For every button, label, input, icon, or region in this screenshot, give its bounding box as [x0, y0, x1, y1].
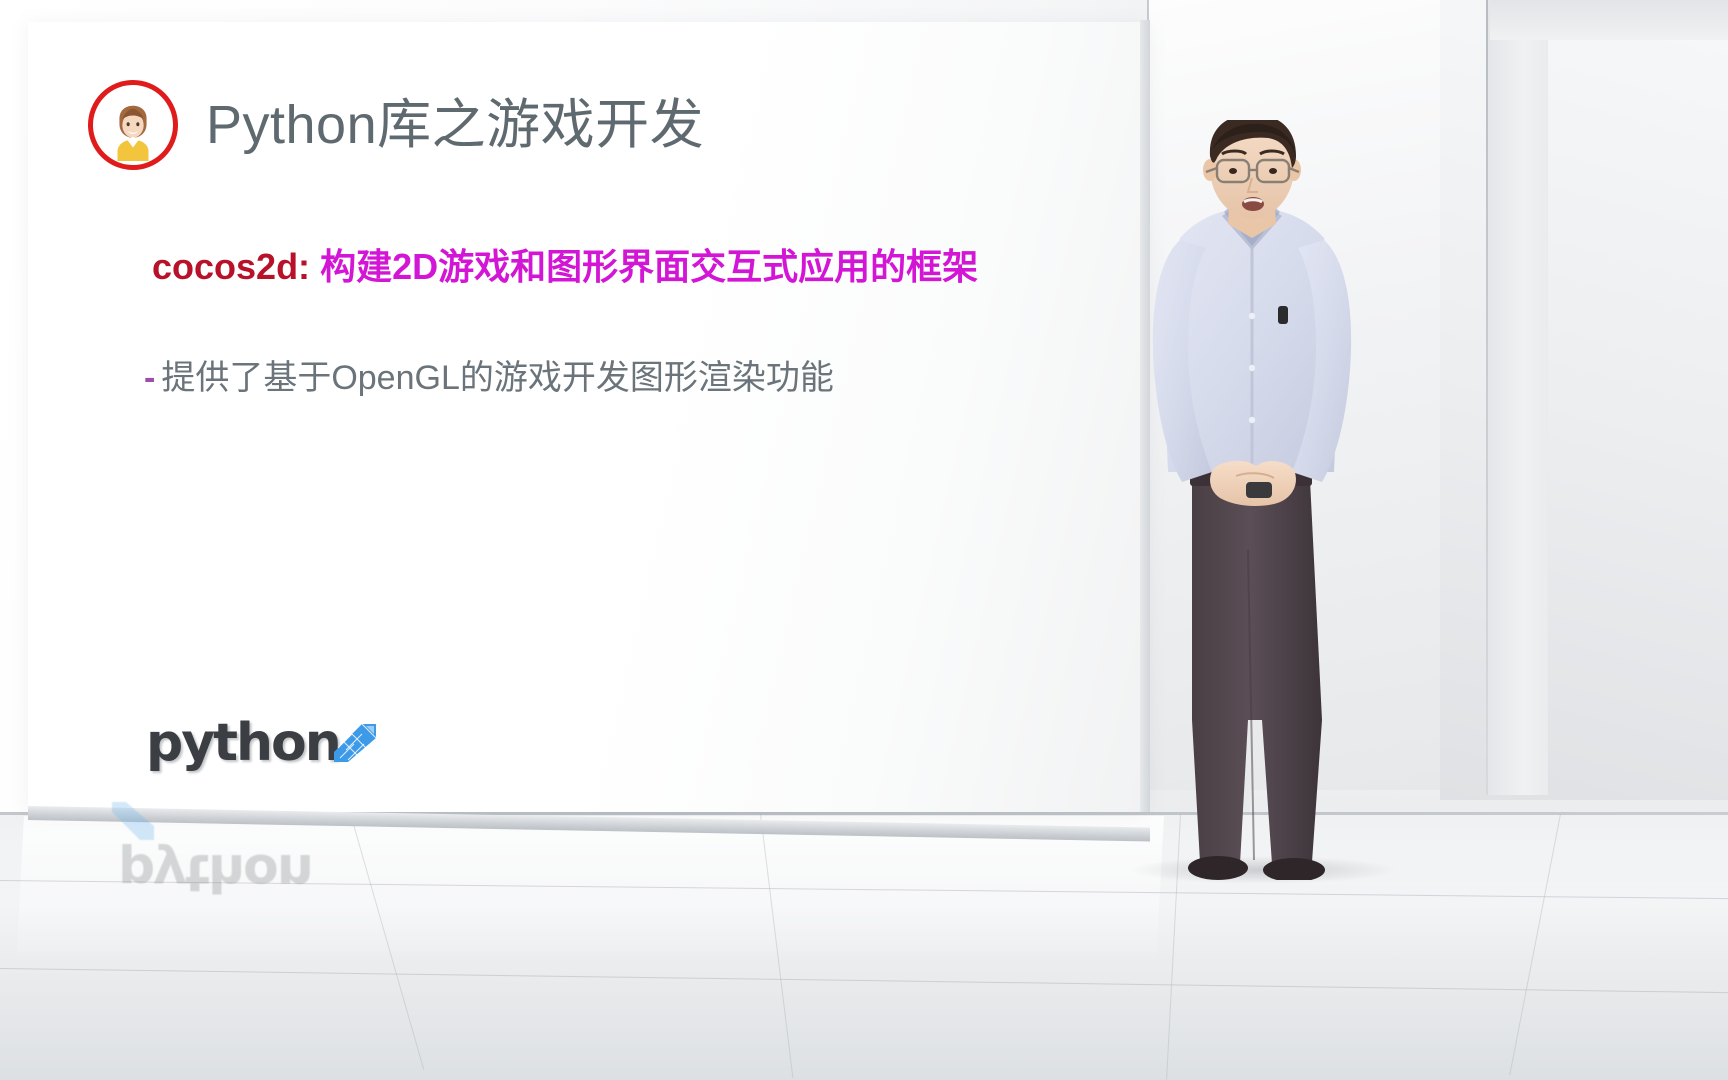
- person-avatar-icon: [88, 80, 178, 170]
- presenter-figure: [1096, 120, 1426, 880]
- far-right-wall-panel: [1440, 0, 1728, 800]
- python-wordmark: python: [146, 713, 340, 773]
- library-name: cocos2d:: [152, 246, 310, 287]
- python-logo-icon-reflection: [110, 795, 156, 842]
- python-wordmark-reflection: python: [118, 842, 312, 902]
- ceiling-sliver: [1490, 0, 1728, 40]
- python-mark-glyph-reflection: [110, 800, 156, 842]
- bullet-text: 提供了基于OpenGL的游戏开发图形渲染功能: [161, 356, 834, 400]
- python-logo-icon: [332, 722, 378, 764]
- python-logo-reflection: python: [118, 836, 318, 902]
- person-avatar-glyph: [102, 99, 164, 161]
- bullet-item: - 提供了基于OpenGL的游戏开发图形渲染功能: [144, 356, 834, 400]
- library-description: 构建2D游戏和图形界面交互式应用的框架: [320, 246, 978, 287]
- wall-corner-strip: [1488, 0, 1548, 795]
- page-title: Python库之游戏开发: [206, 97, 704, 154]
- presenter-reflection: [1096, 862, 1426, 1062]
- slide-header: Python库之游戏开发: [88, 80, 704, 170]
- python-mark-glyph: [332, 722, 378, 764]
- wall-seam-right: [1486, 0, 1488, 795]
- python-logo: python: [146, 710, 346, 776]
- library-heading: cocos2d: 构建2D游戏和图形界面交互式应用的框架: [152, 244, 978, 289]
- presenter-illustration: [1096, 120, 1426, 880]
- video-lecture-frame: Python库之游戏开发 cocos2d: 构建2D游戏和图形界面交互式应用的框…: [0, 0, 1728, 1080]
- slide-content: Python库之游戏开发 cocos2d: 构建2D游戏和图形界面交互式应用的框…: [28, 22, 1148, 812]
- bullet-marker: -: [144, 356, 155, 400]
